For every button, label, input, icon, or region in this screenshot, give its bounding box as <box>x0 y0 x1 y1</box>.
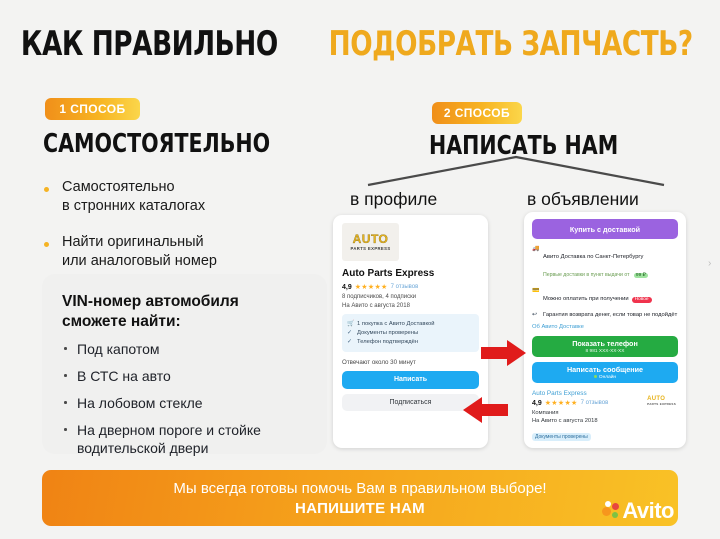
auto-parts-logo: AUTO PARTS EXPRESS <box>342 223 399 261</box>
list-item: Самостоятельно в стронних каталогах <box>40 178 325 216</box>
trust-badges-box: 🛒 1 покупка с Авито Доставкой ✓ Документ… <box>342 314 479 352</box>
reviews-link[interactable]: 7 отзывов <box>391 284 419 290</box>
rating-value: 4,9 <box>532 400 542 407</box>
online-dot-icon <box>594 375 597 378</box>
online-status: Онлайн <box>594 375 616 380</box>
bullet-dot-icon <box>44 187 49 192</box>
bullet-dot-icon <box>64 374 67 377</box>
logo-sub-text: PARTS EXPRESS <box>647 402 676 406</box>
list-item: ✓ Телефон подтверждён <box>347 339 474 345</box>
list-item: На дверном пороге и стойке водительской … <box>62 421 310 457</box>
write-button[interactable]: Написать <box>342 371 479 389</box>
check-circle-icon: ✓ <box>347 330 353 336</box>
page-title-black: КАК ПРАВИЛЬНО <box>21 24 278 64</box>
online-status-text: Онлайн <box>599 375 616 380</box>
infographic-page: КАК ПРАВИЛЬНО ПОДОБРАТЬ ЗАПЧАСТЬ? 1 СПОС… <box>0 0 720 539</box>
check-circle-icon: ✓ <box>347 339 353 345</box>
show-phone-label: Показать телефон <box>572 339 638 348</box>
return-icon: ↩ <box>532 311 539 319</box>
bullet-text: Самостоятельно в стронних каталогах <box>62 178 325 216</box>
avito-wordmark: Avito <box>622 498 674 524</box>
way-one-bullet-list: Самостоятельно в стронних каталогах Найт… <box>40 178 325 288</box>
write-message-button[interactable]: Написать сообщение Онлайн <box>532 362 678 383</box>
bullet-dot-icon <box>64 347 67 350</box>
seller-logo: AUTO PARTS EXPRESS <box>647 396 676 406</box>
avito-logo: Avito <box>602 498 674 524</box>
profile-name: Auto Parts Express <box>342 268 479 279</box>
logo-sub-text: PARTS EXPRESS <box>350 246 390 251</box>
vin-item-text: На дверном пороге и стойке водительской … <box>77 421 310 457</box>
truck-icon: 🚚 <box>532 245 539 281</box>
buy-with-delivery-button[interactable]: Купить с доставкой <box>532 219 678 239</box>
cta-banner-line1: Мы всегда готовы помочь Вам в правильном… <box>42 480 678 497</box>
vin-card-title: VIN-номер автомобиля сможете найти: <box>62 292 310 332</box>
badge-text: Телефон подтверждён <box>357 339 418 345</box>
logo-main-text: AUTO <box>353 233 389 245</box>
list-item: Найти оригинальный или аналоговый номер <box>40 233 325 271</box>
profile-rating-row: 4,9 ★★★★★ 7 отзывов <box>342 283 479 291</box>
delivery-sub-text: Первые доставки в пункт выдачи от <box>543 272 629 278</box>
subscribe-button[interactable]: Подписаться <box>342 394 479 411</box>
write-message-label: Написать сообщение <box>567 365 643 374</box>
vin-item-text: Под капотом <box>77 340 310 358</box>
star-rating-icon: ★★★★★ <box>545 399 578 407</box>
show-phone-button[interactable]: Показать телефон 8 981 XXX-XX-XX <box>532 336 678 357</box>
delivery-main-text: Авито Доставка по Санкт-Петербургу <box>543 254 643 260</box>
bullet-dot-icon <box>64 401 67 404</box>
seller-type: Компания <box>532 410 678 416</box>
star-rating-icon: ★★★★★ <box>355 283 388 291</box>
about-delivery-link[interactable]: Об Авито Доставке <box>532 324 678 330</box>
documents-verified-badge: Документы проверены <box>532 433 591 441</box>
arrow-right-icon <box>481 339 527 367</box>
vin-item-text: В СТС на авто <box>77 367 310 385</box>
bullet-dot-icon <box>64 428 67 431</box>
list-item: ✓ Документы проверены <box>347 330 474 336</box>
price-pill: 99 ₽ <box>634 273 648 278</box>
delivery-main-text: Можно оплатить при получении <box>543 296 629 302</box>
vin-item-text: На лобовом стекле <box>77 394 310 412</box>
phone-number: 8 981 XXX-XX-XX <box>586 349 625 354</box>
list-item: ↩ Гарантия возврата денег, если товар не… <box>532 311 678 319</box>
reply-time-text: Отвечают около 30 минут <box>342 359 479 366</box>
cta-banner: Мы всегда готовы помочь Вам в правильном… <box>42 470 678 526</box>
branch-connector <box>346 155 686 187</box>
way-one-badge: 1 СПОСОБ <box>45 98 140 120</box>
reviews-link[interactable]: 7 отзывов <box>581 400 609 406</box>
bullet-dot-icon <box>44 242 49 247</box>
seller-since: На Авито с августа 2018 <box>532 418 678 424</box>
wallet-icon: 💳 <box>532 287 539 305</box>
vin-info-card: VIN-номер автомобиля сможете найти: Под … <box>42 274 327 454</box>
cta-banner-line2: НАПИШИТЕ НАМ <box>42 500 678 517</box>
avito-dots-icon <box>602 501 620 521</box>
cart-icon: 🛒 <box>347 321 353 327</box>
list-item: На лобовом стекле <box>62 394 310 412</box>
page-title: КАК ПРАВИЛЬНО ПОДОБРАТЬ ЗАПЧАСТЬ? <box>0 24 720 64</box>
way-two-badge: 2 СПОСОБ <box>432 102 522 124</box>
list-item: Под капотом <box>62 340 310 358</box>
sub-label-profile: в профиле <box>350 189 437 210</box>
list-item: 🚚 Авито Доставка по Санкт-Петербургу Пер… <box>532 245 678 281</box>
list-item: В СТС на авто <box>62 367 310 385</box>
followers-text: 8 подписчиков, 4 подписки <box>342 294 479 300</box>
delivery-main-text: Гарантия возврата денег, если товар не п… <box>543 311 677 319</box>
list-item: 💳 Можно оплатить при полученииНовое <box>532 287 678 305</box>
way-one-heading: САМОСТОЯТЕЛЬНО <box>43 129 270 159</box>
edge-artifact: › <box>708 258 714 268</box>
bullet-text: Найти оригинальный или аналоговый номер <box>62 233 325 271</box>
seller-info-block: AUTO PARTS EXPRESS Auto Parts Express 4,… <box>532 390 678 448</box>
rating-value: 4,9 <box>342 284 352 291</box>
ad-screenshot-card: Купить с доставкой 🚚 Авито Доставка по С… <box>524 212 686 448</box>
arrow-left-icon <box>463 396 509 424</box>
member-since-text: На Авито с августа 2018 <box>342 303 479 309</box>
list-item: 🛒 1 покупка с Авито Доставкой <box>347 321 474 327</box>
page-title-gold: ПОДОБРАТЬ ЗАПЧАСТЬ? <box>328 24 692 64</box>
badge-text: 1 покупка с Авито Доставкой <box>357 321 435 327</box>
badge-text: Документы проверены <box>357 330 418 336</box>
new-badge: Новое <box>632 297 652 303</box>
sub-label-ad: в объявлении <box>527 189 639 210</box>
